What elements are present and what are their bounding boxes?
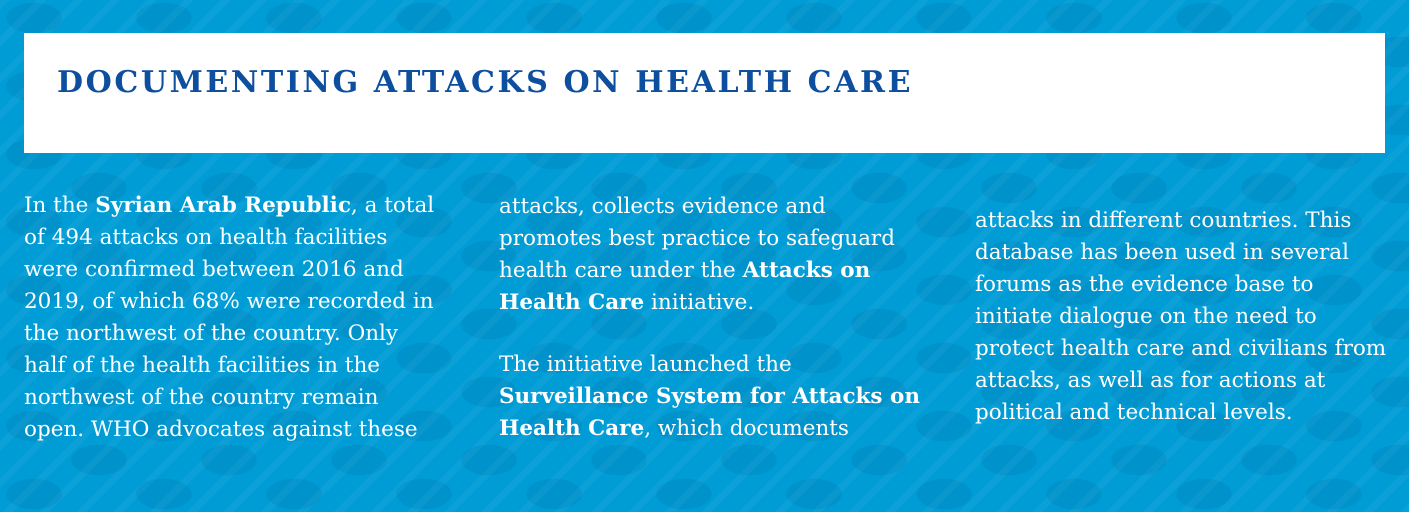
body-text: , a total of 494 attacks on health facil… — [24, 193, 434, 442]
body-text: attacks in different countries. This dat… — [975, 208, 1386, 425]
body-text: In the — [24, 193, 95, 218]
body-text: initiative. — [644, 290, 754, 315]
title-card: DOCUMENTING ATTACKS ON HEALTH CARE — [24, 33, 1385, 153]
paragraph: attacks, collects evidence and promotes … — [499, 191, 924, 319]
paragraph: The initiative launched the Surveillance… — [499, 349, 924, 445]
body-text: , which documents — [644, 416, 849, 441]
text-column-1: In the Syrian Arab Republic, a total of … — [24, 190, 444, 446]
page-title: DOCUMENTING ATTACKS ON HEALTH CARE — [57, 66, 913, 100]
infographic-panel: DOCUMENTING ATTACKS ON HEALTH CARE In th… — [0, 0, 1409, 512]
paragraph: attacks in different countries. This dat… — [975, 205, 1395, 429]
text-column-2: attacks, collects evidence and promotes … — [499, 190, 924, 445]
text-column-3: attacks in different countries. This dat… — [975, 190, 1395, 429]
emphasis-text: Syrian Arab Republic — [95, 193, 351, 218]
paragraph: In the Syrian Arab Republic, a total of … — [24, 190, 444, 446]
body-columns: In the Syrian Arab Republic, a total of … — [0, 190, 1409, 490]
body-text: The initiative launched the — [499, 352, 792, 377]
